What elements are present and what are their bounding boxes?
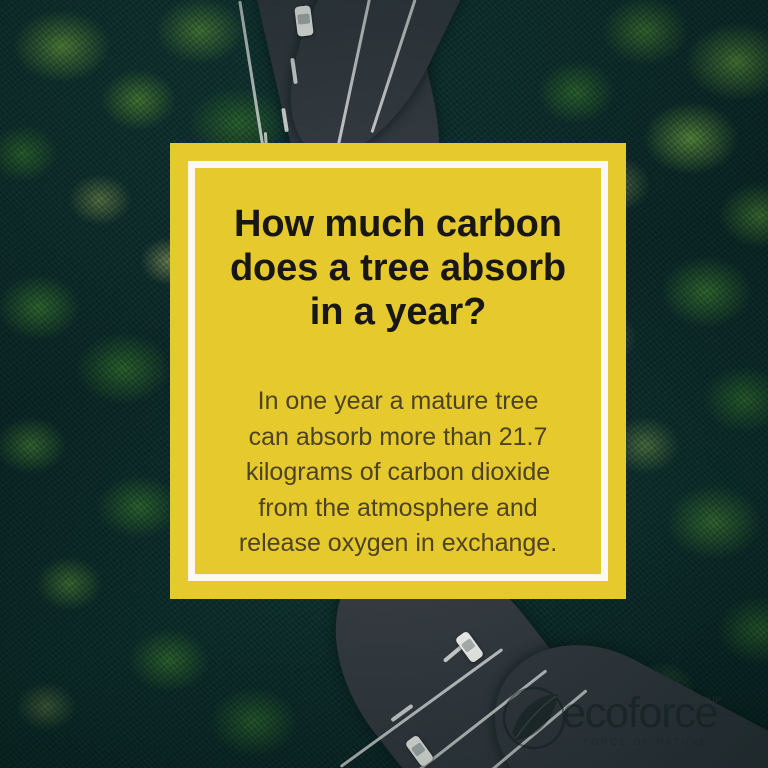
body-line-1: In one year a mature tree (239, 384, 557, 420)
body-line-3: kilograms of carbon dioxide (239, 455, 557, 491)
body-line-5: release oxygen in exchange. (239, 526, 557, 562)
image-canvas: How much carbon does a tree absorb in a … (0, 0, 768, 768)
leaf-circle-icon (502, 686, 566, 750)
logo-tagline: FORCE OF NATURE (562, 737, 730, 748)
logo-text-block: ecoforce GROUP FORCE OF NATURE (562, 692, 748, 748)
body-copy: In one year a mature tree can absorb mor… (239, 384, 557, 562)
brand-logo: ecoforce GROUP FORCE OF NATURE (500, 682, 748, 756)
fact-card-inner-border: How much carbon does a tree absorb in a … (188, 161, 608, 581)
logo-superscript: GROUP (687, 696, 721, 705)
page-title: How much carbon does a tree absorb in a … (230, 202, 566, 334)
fact-card: How much carbon does a tree absorb in a … (170, 143, 626, 599)
headline-line-1: How much carbon (230, 202, 566, 246)
headline-line-2: does a tree absorb (230, 246, 566, 290)
headline-line-3: in a year? (230, 290, 566, 334)
body-line-4: from the atmosphere and (239, 491, 557, 527)
body-line-2: can absorb more than 21.7 (239, 420, 557, 456)
logo-wordmark: ecoforce GROUP (562, 692, 717, 735)
